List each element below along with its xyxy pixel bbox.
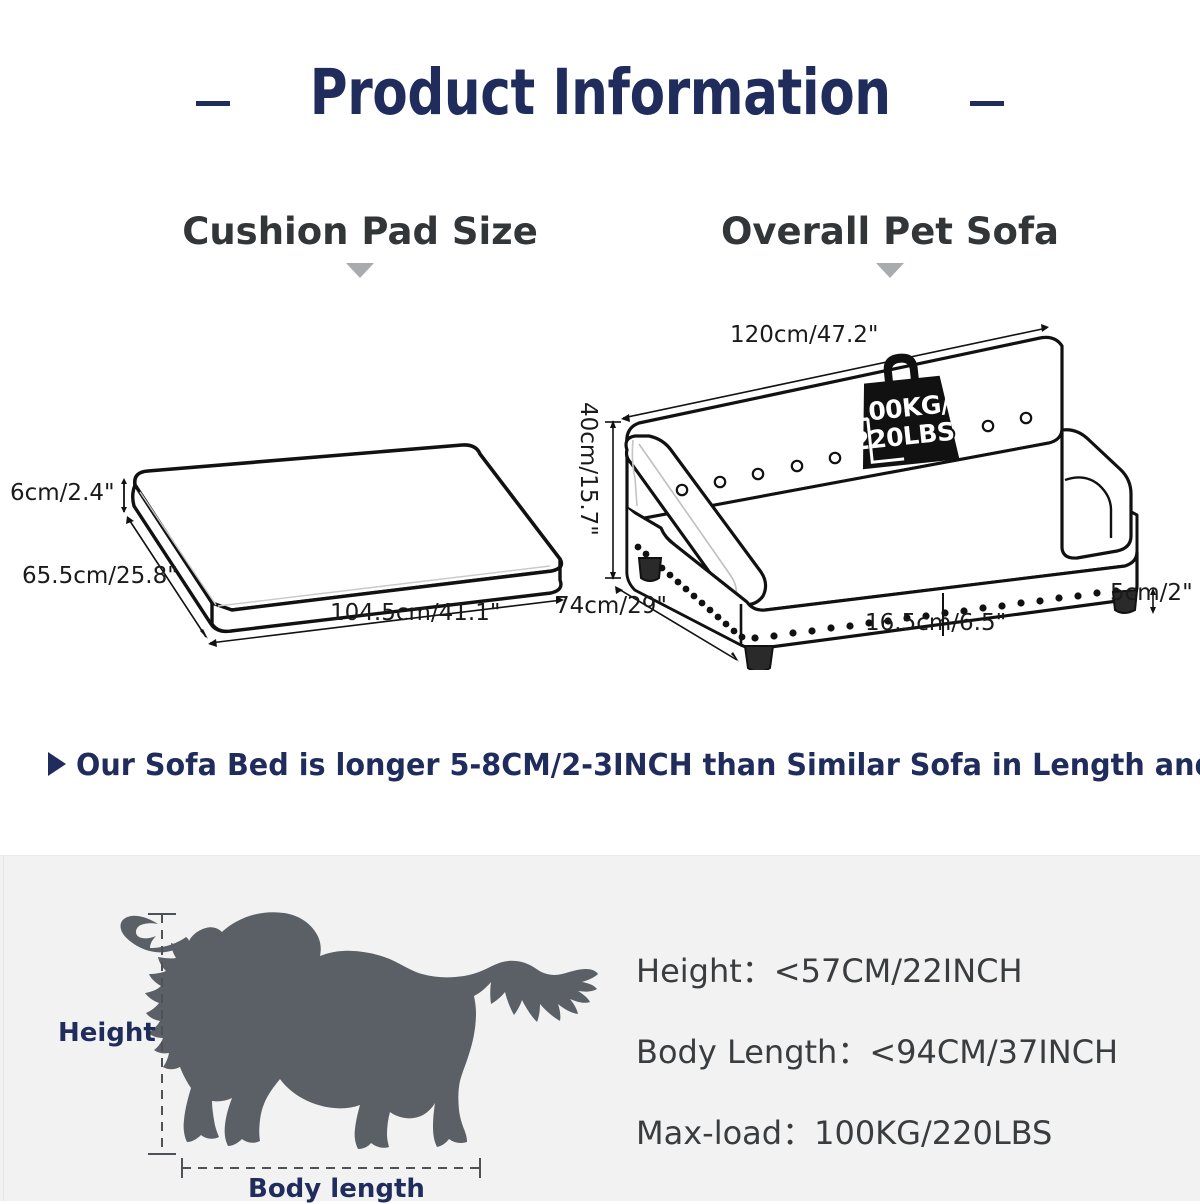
cushion-pad-illustration	[0, 400, 600, 680]
page-title-text: Product Information	[310, 56, 891, 129]
cushion-width-label: 104.5cm/41.1"	[330, 600, 500, 626]
product-information-infographic: Product Information Cushion Pad Size Ove…	[0, 0, 1200, 1200]
triangle-down-icon	[876, 263, 904, 278]
triangle-down-icon	[346, 263, 374, 278]
sofa-heading-label: Overall Pet Sofa	[630, 212, 1150, 253]
panel-left-rule	[3, 856, 4, 1201]
tagline-text: Our Sofa Bed is longer 5-8CM/2-3INCH tha…	[76, 748, 1200, 783]
cushion-thickness-label: 6cm/2.4"	[10, 480, 115, 506]
dog-measurement-diagram: Height Body length	[40, 866, 600, 1196]
cushion-depth-label: 65.5cm/25.8"	[22, 563, 178, 589]
sofa-section-heading: Overall Pet Sofa	[630, 212, 1150, 278]
sofa-width-label: 120cm/47.2"	[730, 322, 879, 348]
page-title: Product Information	[0, 56, 1200, 129]
cushion-thickness-dim	[121, 478, 127, 513]
cushion-section-heading: Cushion Pad Size	[60, 212, 660, 278]
sofa-height-label: 40cm/15.7"	[575, 402, 601, 536]
pet-sofa-diagram: 100KG/ 220LBS 120cm/47.2" 40cm/15.7" 74c…	[565, 310, 1200, 670]
title-dash-left	[196, 101, 230, 106]
sofa-height-dim	[605, 420, 621, 580]
dog-spec-list: Height：<57CM/22INCH Body Length：<94CM/37…	[636, 946, 1176, 1154]
dog-height-label: Height	[58, 1018, 156, 1048]
sofa-leg-height-label: 5cm/2"	[1110, 580, 1193, 606]
sofa-base-height-label: 16.5cm/6.5"	[865, 610, 1006, 636]
tagline-banner: Our Sofa Bed is longer 5-8CM/2-3INCH tha…	[48, 748, 1188, 783]
cushion-pad-diagram: 6cm/2.4" 65.5cm/25.8" 104.5cm/41.1"	[0, 400, 600, 680]
sofa-depth-label: 74cm/29"	[555, 593, 667, 619]
triangle-right-icon	[48, 752, 66, 776]
spec-body-length: Body Length：<94CM/37INCH	[636, 1027, 1176, 1073]
title-dash-right	[970, 101, 1004, 106]
cushion-heading-label: Cushion Pad Size	[60, 212, 660, 253]
dog-silhouette-icon	[121, 912, 599, 1149]
dog-size-panel: Height Body length Height：<57CM/22INCH B…	[0, 855, 1200, 1201]
spec-max-load: Max-load：100KG/220LBS	[636, 1108, 1176, 1154]
spec-height: Height：<57CM/22INCH	[636, 946, 1176, 992]
